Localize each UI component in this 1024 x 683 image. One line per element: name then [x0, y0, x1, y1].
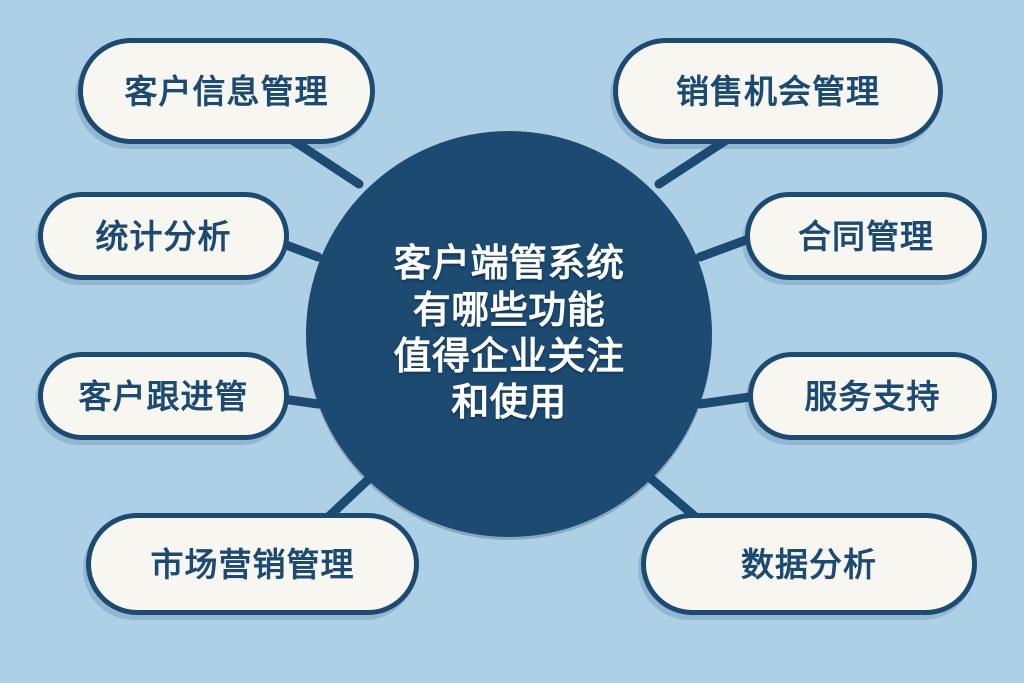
node-customer-information-management[interactable]: 客户信息管理	[78, 38, 375, 144]
node-label-marketing-management: 市场营销管理	[151, 548, 355, 581]
mindmap-canvas: 客户端管系统 有哪些功能 值得企业关注 和使用 客户信息管理销售机会管理统计分析…	[0, 0, 1024, 683]
central-hub-node[interactable]: 客户端管系统 有哪些功能 值得企业关注 和使用	[306, 131, 712, 537]
node-label-statistical-analysis: 统计分析	[96, 220, 232, 253]
central-hub-label: 客户端管系统 有哪些功能 值得企业关注 和使用	[371, 241, 646, 426]
node-label-data-analysis: 数据分析	[741, 548, 877, 581]
node-marketing-management[interactable]: 市场营销管理	[86, 513, 419, 615]
node-statistical-analysis[interactable]: 统计分析	[38, 192, 289, 280]
node-label-sales-opportunity-management: 销售机会管理	[676, 75, 880, 108]
node-label-customer-information-management: 客户信息管理	[125, 75, 329, 108]
node-data-analysis[interactable]: 数据分析	[641, 513, 977, 615]
node-service-support[interactable]: 服务支持	[748, 352, 997, 440]
node-label-contract-management: 合同管理	[798, 220, 934, 253]
node-label-customer-follow-up-management: 客户跟进管	[79, 380, 249, 413]
node-contract-management[interactable]: 合同管理	[745, 192, 987, 280]
node-customer-follow-up-management[interactable]: 客户跟进管	[38, 352, 289, 440]
node-label-service-support: 服务支持	[805, 380, 941, 413]
node-sales-opportunity-management[interactable]: 销售机会管理	[613, 38, 943, 144]
